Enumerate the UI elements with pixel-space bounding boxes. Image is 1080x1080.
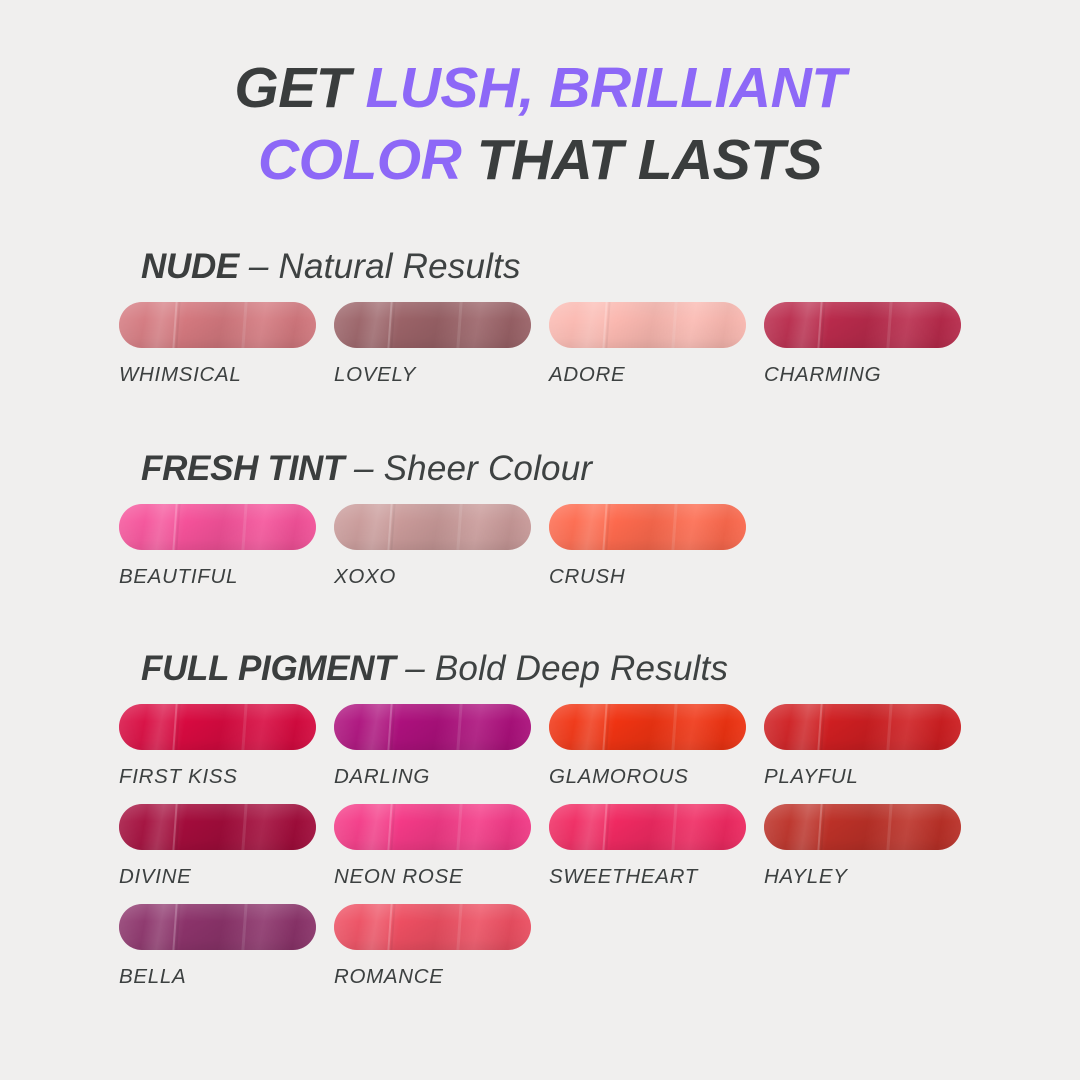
swatch-label: BEAUTIFUL [119,565,334,589]
swatch-chip-whimsical[interactable] [119,302,316,348]
swatch-chip-divine[interactable] [119,804,316,850]
headline-get: GET [234,56,365,120]
swatch-cell[interactable]: CHARMING [764,302,979,402]
swatch-grid-fresh-tint: BEAUTIFUL XOXO CRUSH [119,504,985,604]
swatch-label: DARLING [334,765,549,789]
swatch-cell[interactable]: ADORE [549,302,764,402]
swatch-cell[interactable]: LOVELY [334,302,549,402]
headline-that-lasts: THAT LASTS [477,128,822,192]
section-separator: – [239,247,279,286]
section-category-label: FRESH TINT [141,449,344,488]
swatch-cell[interactable]: GLAMOROUS [549,704,764,804]
section-description-label: Natural Results [279,247,521,286]
swatch-label: HAYLEY [764,865,979,889]
swatch-label: DIVINE [119,865,334,889]
swatch-cell[interactable]: NEON ROSE [334,804,549,904]
swatch-cell[interactable]: DARLING [334,704,549,804]
headline-lush-brilliant: LUSH, BRILLIANT [365,56,845,120]
page-headline: GET LUSH, BRILLIANT COLOR THAT LASTS [0,52,1080,196]
section-description-label: Bold Deep Results [435,649,728,688]
swatch-cell[interactable]: CRUSH [549,504,764,604]
section-heading-full-pigment: FULL PIGMENT – Bold Deep Results [141,646,985,692]
swatch-label: ADORE [549,363,764,387]
swatch-chip-lovely[interactable] [334,302,531,348]
section-heading-fresh-tint: FRESH TINT – Sheer Colour [141,446,985,492]
swatch-chip-neon-rose[interactable] [334,804,531,850]
section-nude: NUDE – Natural Results WHIMSICAL LOVELY … [119,244,985,402]
swatch-label: SWEETHEART [549,865,764,889]
swatch-chip-first-kiss[interactable] [119,704,316,750]
swatch-chip-darling[interactable] [334,704,531,750]
swatch-label: PLAYFUL [764,765,979,789]
headline-line-1: GET LUSH, BRILLIANT [0,52,1080,124]
swatch-label: FIRST KISS [119,765,334,789]
swatch-label: NEON ROSE [334,865,549,889]
section-full-pigment: FULL PIGMENT – Bold Deep Results FIRST K… [119,646,985,1004]
swatch-label: BELLA [119,965,334,989]
swatch-label: LOVELY [334,363,549,387]
swatch-cell[interactable]: BELLA [119,904,334,1004]
section-category-label: NUDE [141,247,239,286]
swatch-cell[interactable]: FIRST KISS [119,704,334,804]
swatch-chip-sweetheart[interactable] [549,804,746,850]
section-description-label: Sheer Colour [384,449,593,488]
swatch-label: ROMANCE [334,965,549,989]
section-category-label: FULL PIGMENT [141,649,395,688]
swatch-cell[interactable]: HAYLEY [764,804,979,904]
swatch-cell[interactable]: XOXO [334,504,549,604]
section-heading-nude: NUDE – Natural Results [141,244,985,290]
swatch-label: CRUSH [549,565,764,589]
swatch-cell[interactable]: DIVINE [119,804,334,904]
swatch-grid-full-pigment: FIRST KISS DARLING GLAMOROUS PLAYFUL DIV… [119,704,985,1004]
headline-line-2: COLOR THAT LASTS [0,124,1080,196]
swatch-chip-adore[interactable] [549,302,746,348]
swatch-label: WHIMSICAL [119,363,334,387]
swatch-label: XOXO [334,565,549,589]
swatch-chip-charming[interactable] [764,302,961,348]
swatch-cell[interactable]: BEAUTIFUL [119,504,334,604]
swatch-label: CHARMING [764,363,979,387]
swatch-cell[interactable]: ROMANCE [334,904,549,1004]
section-separator: – [344,449,384,488]
headline-color: COLOR [258,128,477,192]
swatch-chip-beautiful[interactable] [119,504,316,550]
swatch-chip-crush[interactable] [549,504,746,550]
section-fresh-tint: FRESH TINT – Sheer Colour BEAUTIFUL XOXO… [119,446,985,604]
swatch-chip-playful[interactable] [764,704,961,750]
swatch-chip-hayley[interactable] [764,804,961,850]
swatch-cell[interactable]: SWEETHEART [549,804,764,904]
swatch-cell[interactable]: PLAYFUL [764,704,979,804]
swatch-chip-xoxo[interactable] [334,504,531,550]
swatch-grid-nude: WHIMSICAL LOVELY ADORE CHARMING [119,302,985,402]
section-separator: – [395,649,435,688]
swatch-chip-bella[interactable] [119,904,316,950]
swatch-chip-glamorous[interactable] [549,704,746,750]
swatch-cell[interactable]: WHIMSICAL [119,302,334,402]
swatch-label: GLAMOROUS [549,765,764,789]
swatch-chip-romance[interactable] [334,904,531,950]
